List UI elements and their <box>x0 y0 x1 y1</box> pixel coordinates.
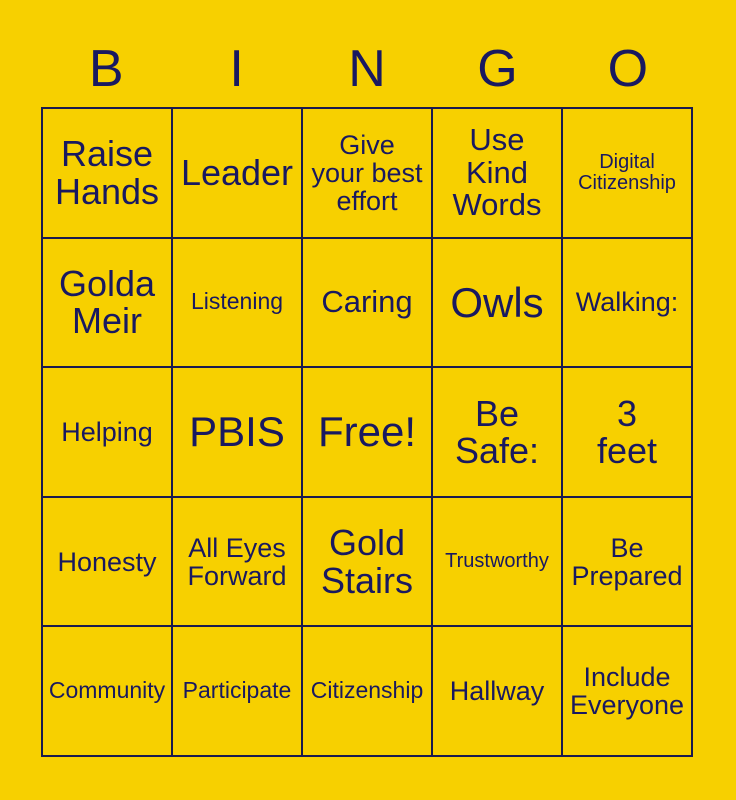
bingo-cell-label: Community <box>47 679 167 703</box>
bingo-cell-label: Free! <box>307 410 427 454</box>
bingo-cell-label: Use Kind Words <box>437 124 557 221</box>
bingo-cell-label: Honesty <box>47 548 167 576</box>
bingo-cell-label: Participate <box>177 679 297 703</box>
bingo-header: B I N G O <box>41 36 693 102</box>
bingo-header-letter-i: I <box>171 43 301 95</box>
bingo-cell-r3c5[interactable]: 3 feet <box>563 368 693 498</box>
bingo-cell-r1c5[interactable]: Digital Citizenship <box>563 109 693 239</box>
bingo-cell-r5c5[interactable]: Include Everyone <box>563 627 693 757</box>
bingo-cell-label: All Eyes Forward <box>177 534 297 590</box>
bingo-cell-label: Give your best effort <box>307 131 427 215</box>
bingo-cell-label: Digital Citizenship <box>567 152 687 194</box>
bingo-cell-label: Be Safe: <box>437 395 557 470</box>
bingo-cell-r3c4[interactable]: Be Safe: <box>433 368 563 498</box>
bingo-cell-r1c4[interactable]: Use Kind Words <box>433 109 563 239</box>
bingo-cell-label: Listening <box>177 290 297 314</box>
bingo-cell-r2c5[interactable]: Walking: <box>563 239 693 369</box>
bingo-cell-r5c1[interactable]: Community <box>43 627 173 757</box>
bingo-cell-r3c1[interactable]: Helping <box>43 368 173 498</box>
bingo-header-letter-g: G <box>432 43 562 95</box>
bingo-cell-r4c1[interactable]: Honesty <box>43 498 173 628</box>
bingo-cell-r1c3[interactable]: Give your best effort <box>303 109 433 239</box>
bingo-cell-label: Citizenship <box>307 679 427 703</box>
bingo-cell-label: Hallway <box>437 677 557 705</box>
bingo-cell-label: Be Prepared <box>567 534 687 590</box>
bingo-cell-r3c3[interactable]: Free! <box>303 368 433 498</box>
bingo-cell-label: Owls <box>437 281 557 325</box>
bingo-cell-label: Golda Meir <box>47 265 167 340</box>
bingo-cell-r2c1[interactable]: Golda Meir <box>43 239 173 369</box>
bingo-cell-label: 3 feet <box>567 395 687 470</box>
bingo-card: B I N G O Raise HandsLeaderGive your bes… <box>0 0 736 800</box>
bingo-cell-label: Caring <box>307 286 427 318</box>
bingo-cell-label: Gold Stairs <box>307 524 427 599</box>
bingo-cell-label: Include Everyone <box>567 663 687 719</box>
bingo-cell-r4c2[interactable]: All Eyes Forward <box>173 498 303 628</box>
bingo-cell-r5c4[interactable]: Hallway <box>433 627 563 757</box>
bingo-cell-r3c2[interactable]: PBIS <box>173 368 303 498</box>
bingo-grid: Raise HandsLeaderGive your best effortUs… <box>41 107 693 757</box>
bingo-cell-r1c1[interactable]: Raise Hands <box>43 109 173 239</box>
bingo-cell-label: PBIS <box>177 410 297 454</box>
bingo-cell-r1c2[interactable]: Leader <box>173 109 303 239</box>
bingo-cell-r4c5[interactable]: Be Prepared <box>563 498 693 628</box>
bingo-cell-r5c3[interactable]: Citizenship <box>303 627 433 757</box>
bingo-cell-label: Trustworthy <box>437 551 557 572</box>
bingo-cell-label: Raise Hands <box>47 135 167 210</box>
bingo-cell-r2c2[interactable]: Listening <box>173 239 303 369</box>
bingo-cell-r4c4[interactable]: Trustworthy <box>433 498 563 628</box>
bingo-cell-r4c3[interactable]: Gold Stairs <box>303 498 433 628</box>
bingo-header-letter-o: O <box>563 43 693 95</box>
bingo-header-letter-n: N <box>302 43 432 95</box>
bingo-cell-r5c2[interactable]: Participate <box>173 627 303 757</box>
bingo-cell-label: Walking: <box>567 288 687 316</box>
bingo-cell-label: Helping <box>47 418 167 446</box>
bingo-cell-r2c3[interactable]: Caring <box>303 239 433 369</box>
bingo-cell-r2c4[interactable]: Owls <box>433 239 563 369</box>
bingo-header-letter-b: B <box>41 43 171 95</box>
bingo-cell-label: Leader <box>177 154 297 191</box>
